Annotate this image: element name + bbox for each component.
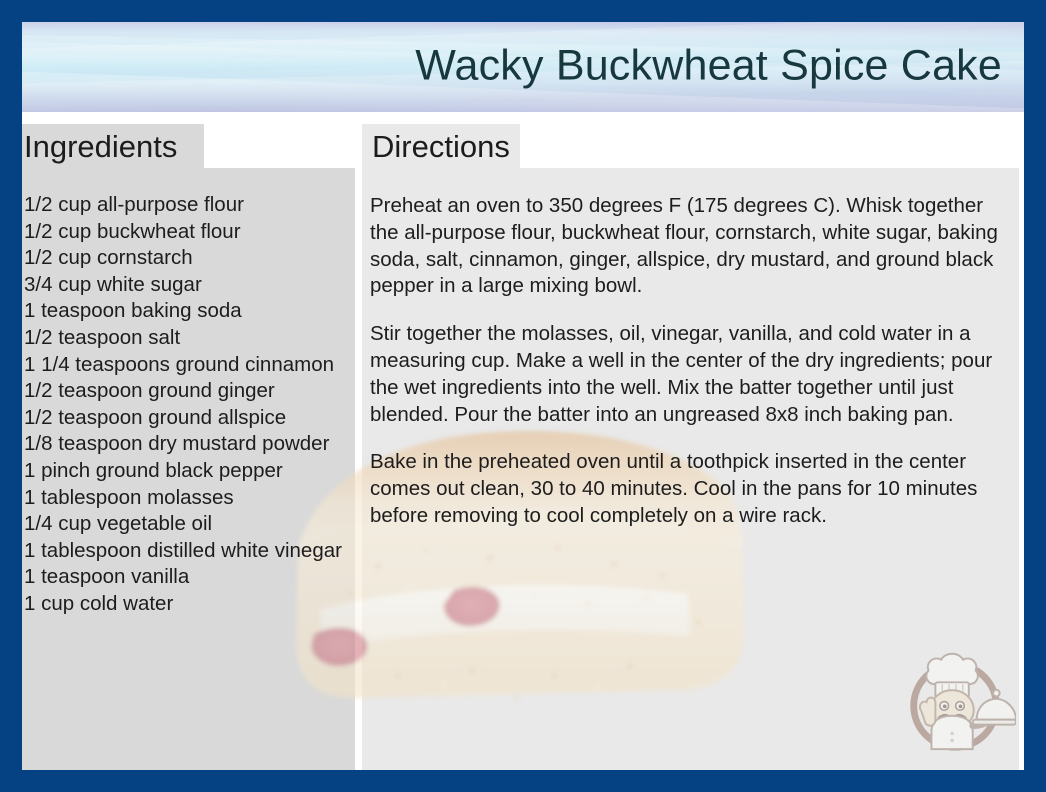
ingredient-item: 1 cup cold water [24, 591, 354, 618]
ingredient-item: 3/4 cup white sugar [24, 272, 354, 299]
border-bottom [0, 770, 1046, 792]
recipe-card: Wacky Buckwheat Spice Cake [0, 0, 1046, 792]
ingredient-item: 1 tablespoon distilled white vinegar [24, 538, 354, 565]
directions-heading: Directions [372, 131, 510, 162]
ingredient-item: 1 teaspoon baking soda [24, 298, 354, 325]
direction-step: Preheat an oven to 350 degrees F (175 de… [370, 193, 1013, 300]
ingredients-heading: Ingredients [24, 131, 177, 162]
direction-step: Bake in the preheated oven until a tooth… [370, 449, 1013, 529]
ingredient-item: 1/2 teaspoon ground ginger [24, 378, 354, 405]
ingredient-item: 1/8 teaspoon dry mustard powder [24, 431, 354, 458]
ingredients-list: 1/2 cup all-purpose flour1/2 cup buckwhe… [24, 192, 354, 618]
ingredient-item: 1 teaspoon vanilla [24, 564, 354, 591]
ingredient-item: 1 1/4 teaspoons ground cinnamon [24, 352, 354, 379]
direction-step: Stir together the molasses, oil, vinegar… [370, 321, 1013, 428]
ingredient-item: 1/2 teaspoon salt [24, 325, 354, 352]
ingredient-item: 1 tablespoon molasses [24, 485, 354, 512]
ingredient-item: 1/2 teaspoon ground allspice [24, 405, 354, 432]
border-left [0, 0, 22, 792]
ingredient-item: 1/2 cup cornstarch [24, 245, 354, 272]
ingredient-item: 1/2 cup buckwheat flour [24, 219, 354, 246]
recipe-title: Wacky Buckwheat Spice Cake [415, 44, 1002, 89]
border-right [1024, 0, 1046, 792]
ingredient-item: 1/4 cup vegetable oil [24, 511, 354, 538]
ingredient-item: 1/2 cup all-purpose flour [24, 192, 354, 219]
ingredient-item: 1 pinch ground black pepper [24, 458, 354, 485]
header-banner: Wacky Buckwheat Spice Cake [22, 22, 1024, 112]
directions-text: Preheat an oven to 350 degrees F (175 de… [370, 193, 1013, 530]
border-top [0, 0, 1046, 22]
